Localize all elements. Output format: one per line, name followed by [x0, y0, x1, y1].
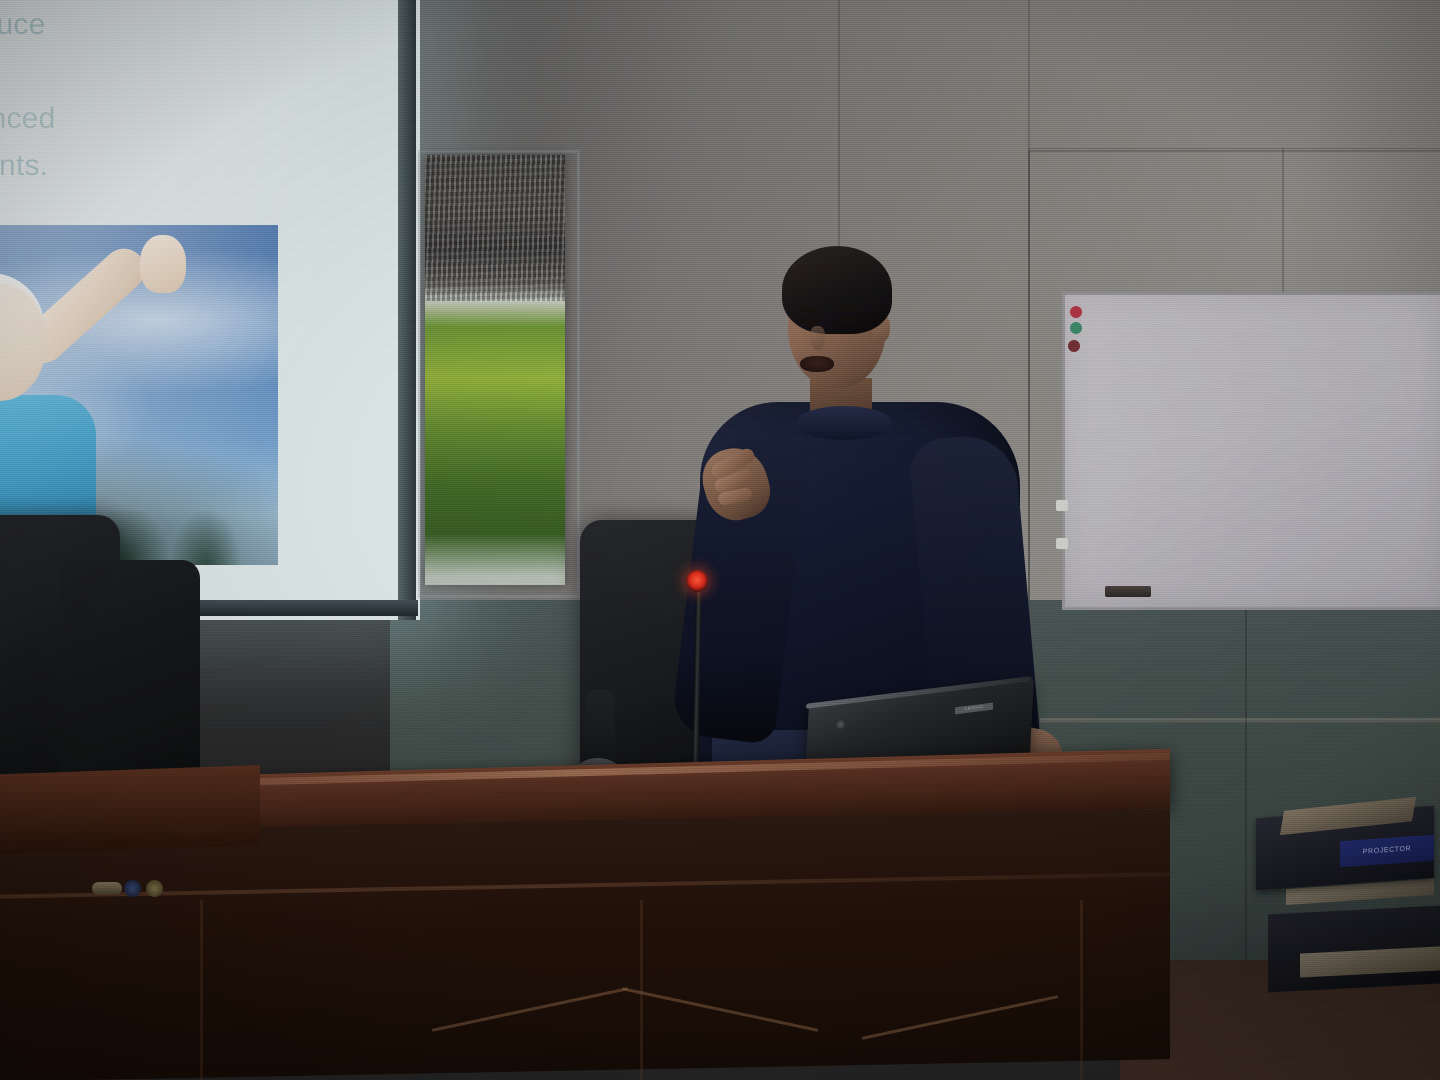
podium-panel-divider-1 — [200, 900, 203, 1080]
magnet-dark-red-icon — [1068, 340, 1080, 352]
podium-knob-gold[interactable] — [146, 880, 163, 897]
speaker-collar — [796, 406, 892, 440]
podium-controls[interactable] — [92, 880, 172, 900]
poster-frame — [418, 150, 580, 598]
wall-tile-line-top — [1028, 148, 1440, 149]
slide-photo-hand — [140, 235, 186, 293]
podium-label-strip — [92, 882, 122, 895]
microphone-led-icon[interactable] — [686, 570, 708, 592]
slide-photo-head — [0, 283, 46, 401]
speaker-eye-right — [840, 316, 858, 322]
screen-frame-right — [398, 0, 416, 620]
lectern-block — [0, 765, 260, 855]
lower-wall-seam — [1245, 600, 1247, 970]
wall-chair-rail — [1040, 718, 1440, 723]
podium-panel-divider-3 — [1080, 900, 1083, 1080]
lecture-room-photo: ...remity rength. and reduce of falls am… — [0, 0, 1440, 1080]
speaker-brow-left — [796, 308, 822, 313]
podium-knob-blue[interactable] — [124, 880, 141, 897]
speaker-mouth — [800, 356, 834, 372]
podium-panel-divider-2 — [640, 900, 643, 1080]
magnet-green-icon — [1070, 322, 1082, 334]
whiteboard — [1062, 292, 1440, 610]
podium-front-panel — [0, 809, 1170, 1080]
slide-photo — [0, 225, 278, 565]
slide-text: ...remity rength. and reduce of falls am… — [0, 0, 320, 189]
magnet-red-icon — [1070, 306, 1082, 318]
speaker-brow-right — [836, 306, 862, 311]
speaker-nose — [810, 326, 825, 350]
whiteboard-eraser — [1105, 586, 1151, 597]
speaker-eye-left — [799, 318, 817, 324]
